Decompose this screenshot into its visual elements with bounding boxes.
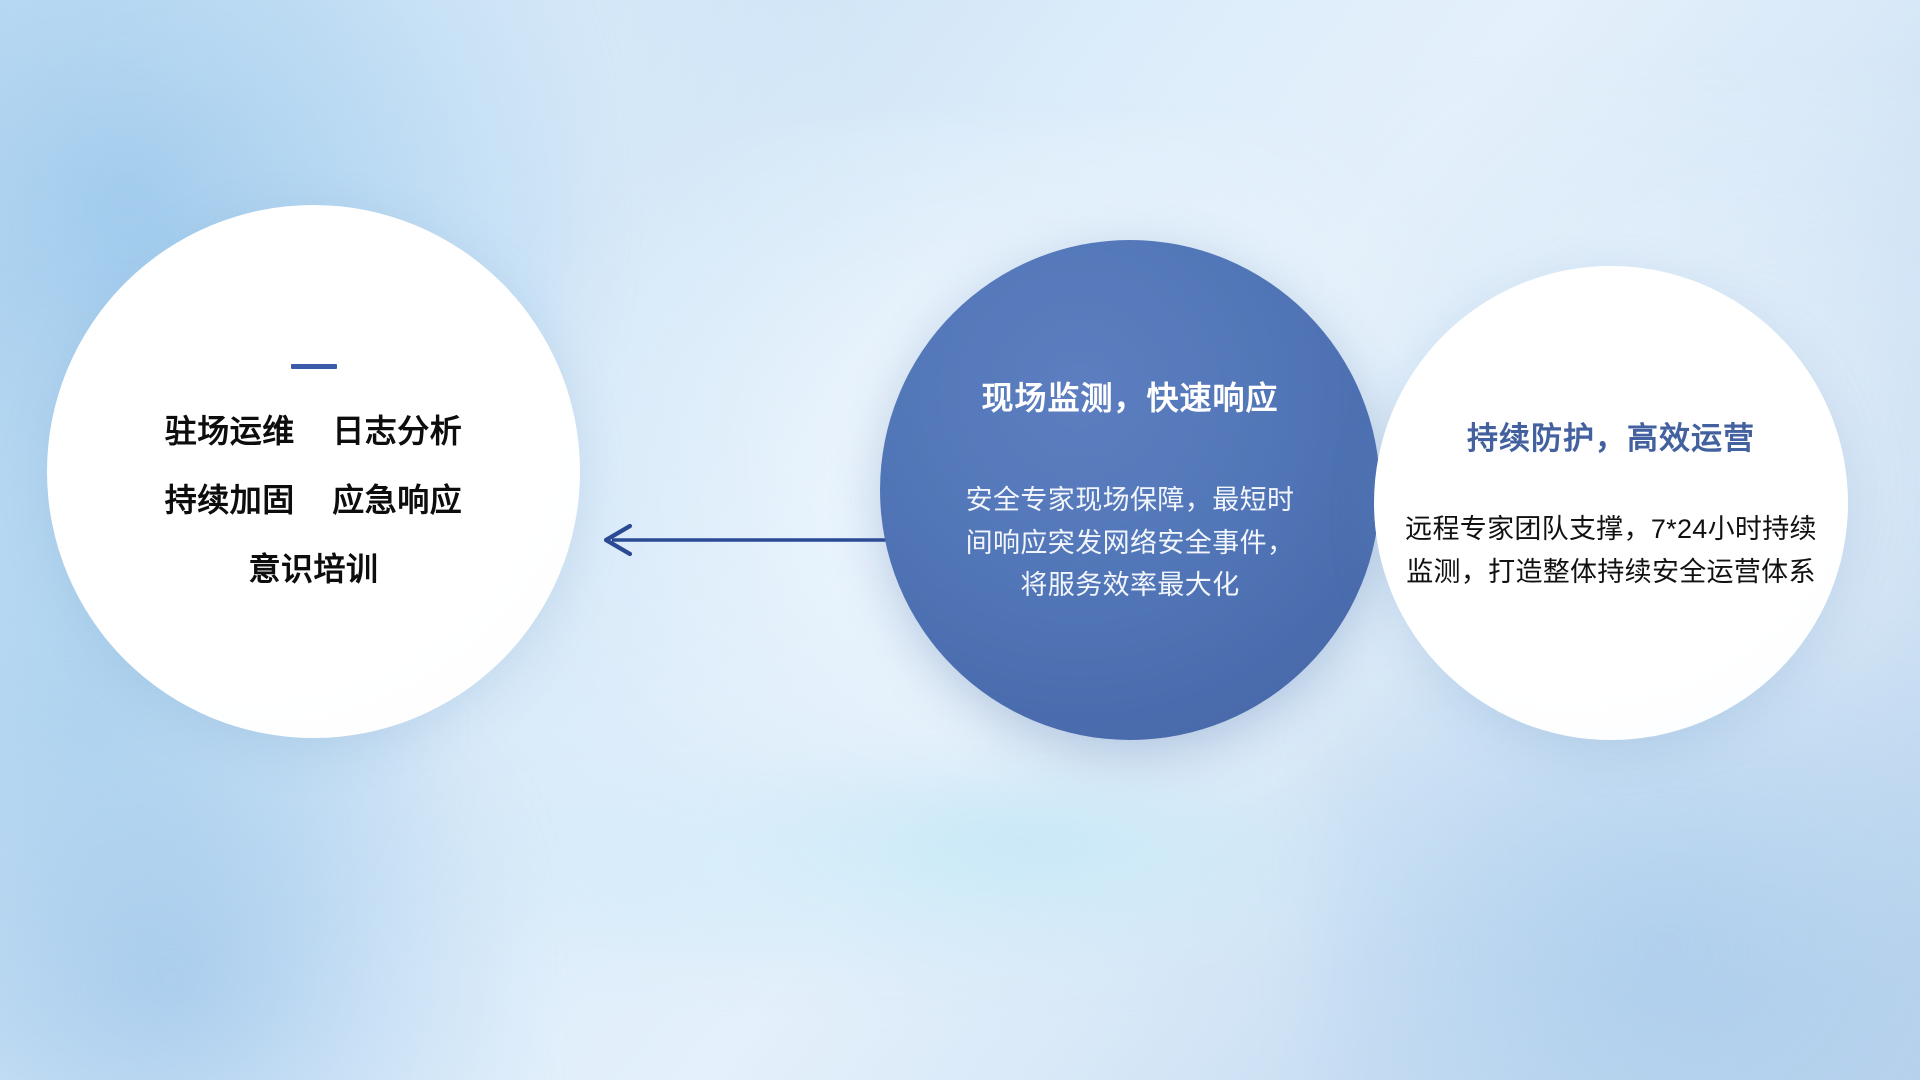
left-circle-content: 驻场运维 日志分析 持续加固 应急响应 意识培训 — [47, 358, 580, 585]
background-corner-bottom-left — [0, 700, 520, 1080]
right-circle-title: 持续防护，高效运营 — [1467, 413, 1755, 458]
flow-arrow-icon — [590, 510, 910, 580]
keyword-line-2: 持续加固 应急响应 — [47, 484, 580, 516]
middle-circle-title: 现场监测，快速响应 — [981, 373, 1278, 419]
keyword-line-1: 驻场运维 日志分析 — [47, 415, 580, 447]
right-circle-body: 远程专家团队支撑，7*24小时持续监测，打造整体持续安全运营体系 — [1401, 508, 1821, 592]
keyword-line-3: 意识培训 — [47, 553, 580, 585]
middle-circle-body: 安全专家现场保障，最短时间响应突发网络安全事件，将服务效率最大化 — [965, 479, 1295, 607]
background-streak — [760, 760, 1280, 930]
right-circle-card: 持续防护，高效运营 远程专家团队支撑，7*24小时持续监测，打造整体持续安全运营… — [1374, 266, 1848, 740]
left-circle-card: 驻场运维 日志分析 持续加固 应急响应 意识培训 — [47, 205, 580, 738]
divider-dash-icon — [291, 364, 337, 369]
middle-circle-card: 现场监测，快速响应 安全专家现场保障，最短时间响应突发网络安全事件，将服务效率最… — [880, 240, 1380, 740]
